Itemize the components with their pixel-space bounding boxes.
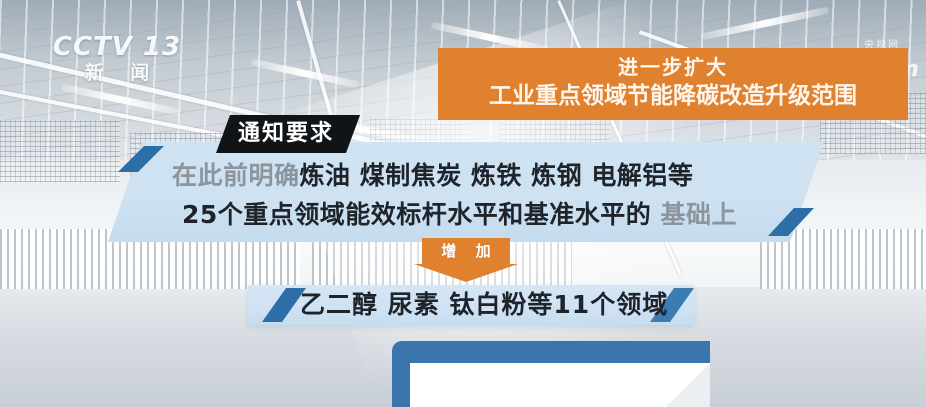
panel-line-2-body: 25个重点领域能效标杆水平和基准水平的 — [182, 200, 651, 229]
headline-line1: 进一步扩大 — [448, 54, 898, 81]
panel-line-1-body: 炼油 煤制焦炭 炼铁 炼钢 电解铝等 — [300, 161, 694, 190]
cctv13-logo-line2: 新 闻 — [52, 61, 182, 85]
increase-arrow: 增 加 — [414, 238, 518, 282]
section-tag-label: 通知要求 — [238, 123, 334, 145]
lower-third-frame — [392, 341, 710, 407]
arrow-down-icon — [414, 264, 518, 282]
lower-third-frame-inner — [410, 363, 710, 407]
result-bar-text: 乙二醇 尿素 钛白粉等11个领域 — [300, 290, 668, 320]
panel-line-2: 25个重点领域能效标杆水平和基准水平的 基础上 — [182, 199, 737, 231]
panel-line-1-prefix: 在此前明确 — [172, 161, 300, 190]
section-tag: 通知要求 — [216, 115, 360, 153]
increase-arrow-label: 增 加 — [434, 244, 497, 259]
headline-line2: 工业重点领域节能降碳改造升级范围 — [448, 81, 898, 111]
mesh-panel — [0, 120, 120, 182]
cctv13-logo: CCTV 13 新 闻 — [52, 33, 182, 85]
panel-line-1: 在此前明确炼油 煤制焦炭 炼铁 炼钢 电解铝等 — [172, 160, 693, 192]
increase-arrow-body: 增 加 — [422, 238, 510, 264]
headline-banner: 进一步扩大 工业重点领域节能降碳改造升级范围 — [438, 48, 908, 120]
broadcast-screenshot: CCTV 13 新 闻 央视网 CCTV com 进一步扩大 工业重点领域节能降… — [0, 0, 926, 407]
cctv13-logo-line1: CCTV 13 — [52, 33, 182, 61]
panel-line-2-suffix: 基础上 — [651, 200, 737, 229]
